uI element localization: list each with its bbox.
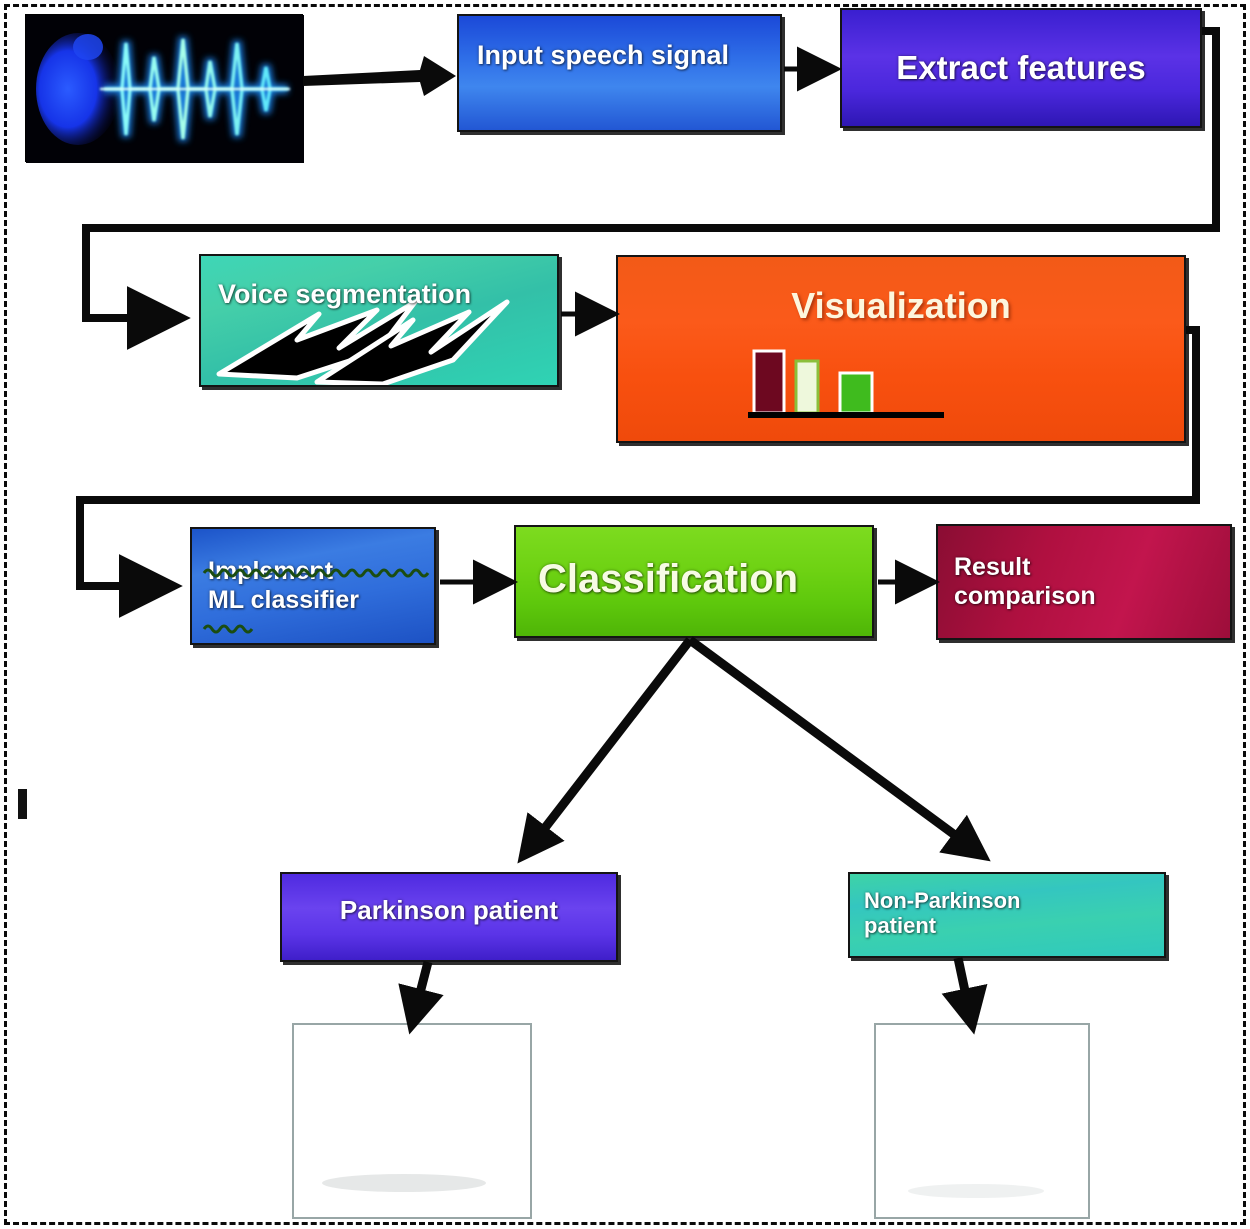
node-label: Non-Parkinson patient <box>850 888 1020 939</box>
node-label: Classification <box>516 556 798 602</box>
node-label: Result comparison <box>938 553 1096 611</box>
node-label: Visualization <box>618 285 1184 326</box>
edge-non-parkinson-to-waveform <box>958 958 972 1024</box>
node-label: Voice segmentation <box>201 279 471 310</box>
edge-parkinson-to-waveform <box>412 962 428 1024</box>
node-label: Extract features <box>842 49 1200 87</box>
bar-chart-icon <box>740 343 970 433</box>
edge-image-to-input <box>303 56 456 96</box>
node-label: Parkinson patient <box>282 896 616 926</box>
spellcheck-underline-icon <box>192 529 436 645</box>
edge-classification-to-parkinson <box>524 640 690 855</box>
connector-layer <box>0 0 1250 1229</box>
node-implement-ml-classifier[interactable]: Implement ML classifier <box>190 527 436 645</box>
node-label: Input speech signal <box>459 40 729 71</box>
edge-classification-to-non-parkinson <box>690 640 982 855</box>
diagram-canvas: Input speech signal Extract features Voi… <box>0 0 1250 1229</box>
